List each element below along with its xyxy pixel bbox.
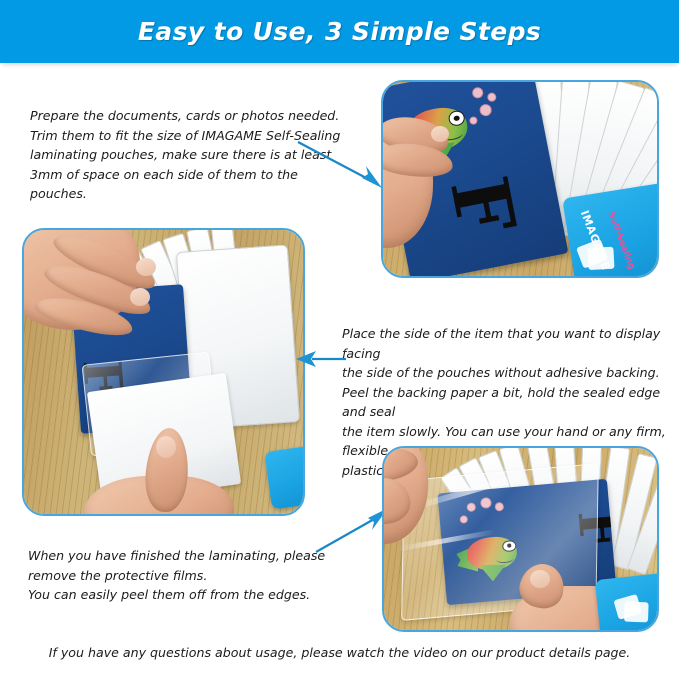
- fingernail: [431, 126, 449, 142]
- box-pouch-graphic: [587, 247, 614, 270]
- arrow-step-1: [296, 140, 388, 192]
- step-2-photo: F: [22, 228, 305, 516]
- page-title: Easy to Use, 3 Simple Steps: [138, 17, 541, 46]
- fingernail: [530, 570, 550, 588]
- arrow-step-2: [296, 348, 346, 370]
- imagame-product-box: [595, 572, 657, 630]
- fingernail: [136, 258, 156, 276]
- bubble-icon: [487, 92, 498, 103]
- fingernail: [130, 288, 150, 306]
- box-pouch-graphic: [624, 602, 649, 623]
- photo-1-scene: F IMAGAME Self-Sealing: [383, 82, 657, 276]
- step-3-photo: F: [382, 446, 659, 632]
- footnote-text: If you have any questions about usage, p…: [0, 645, 679, 660]
- imagame-product-box: IMAGAME Self-Sealing: [562, 182, 657, 276]
- step-1-photo: F IMAGAME Self-Sealing: [381, 80, 659, 278]
- instruction-infographic: Easy to Use, 3 Simple Steps Prepare the …: [0, 0, 679, 679]
- step-3-caption: When you have finished the laminating, p…: [28, 546, 348, 605]
- header-banner: Easy to Use, 3 Simple Steps: [0, 0, 679, 63]
- photo-3-scene: F: [384, 448, 657, 630]
- card-letter: F: [438, 171, 525, 240]
- photo-2-scene: F: [24, 230, 303, 514]
- fingernail: [156, 436, 176, 458]
- imagame-product-box: [264, 444, 303, 509]
